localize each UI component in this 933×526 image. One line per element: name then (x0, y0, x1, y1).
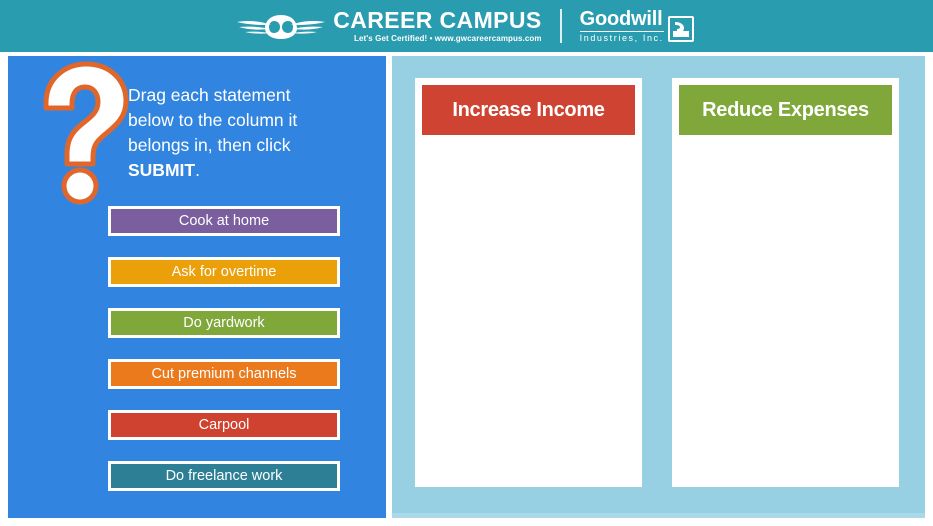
goodwill-title: Goodwill (580, 9, 664, 29)
drop-column-header: Increase Income (422, 85, 635, 135)
drop-column-title: Increase Income (452, 99, 604, 122)
instruction-line-2: below to the column it (128, 110, 297, 130)
panel-footer-strip (392, 513, 925, 518)
brand-header-bar: CAREER CAMPUS Let's Get Certified! • www… (0, 0, 933, 52)
goodwill-rule (580, 31, 664, 32)
drop-zone-increase-income[interactable] (422, 141, 635, 480)
drop-column-title: Reduce Expenses (702, 99, 869, 122)
career-campus-tagline: Let's Get Certified! • www.gwcareercampu… (333, 35, 541, 43)
statement-label: Do yardwork (183, 315, 264, 331)
goodwill-smile-icon (668, 16, 694, 42)
career-campus-logo: CAREER CAMPUS Let's Get Certified! • www… (235, 9, 541, 43)
drop-column-increase-income[interactable]: Increase Income (415, 78, 642, 487)
instruction-period: . (195, 160, 200, 180)
statement-label: Do freelance work (166, 468, 283, 484)
drop-target-panel: Increase Income Reduce Expenses (392, 56, 925, 518)
statement-chip[interactable]: Cut premium channels (108, 359, 340, 389)
activity-screen: CAREER CAMPUS Let's Get Certified! • www… (0, 0, 933, 526)
statement-label: Ask for overtime (172, 264, 277, 280)
instruction-submit-word: SUBMIT (128, 160, 195, 180)
owl-wings-icon (235, 11, 327, 41)
statement-chip[interactable]: Do yardwork (108, 308, 340, 338)
instruction-line-3: belongs in, then click (128, 135, 290, 155)
instruction-text: Drag each statement below to the column … (128, 83, 353, 183)
brand-divider (560, 9, 562, 43)
career-campus-title: CAREER CAMPUS (333, 9, 541, 32)
drop-column-header: Reduce Expenses (679, 85, 892, 135)
draggable-statement-list: Cook at home Ask for overtime Do yardwor… (108, 206, 340, 491)
statement-chip[interactable]: Cook at home (108, 206, 340, 236)
statement-label: Cut premium channels (151, 366, 296, 382)
goodwill-logo: Goodwill Industries, Inc. (580, 9, 694, 43)
goodwill-subtitle: Industries, Inc. (580, 34, 664, 43)
drop-column-reduce-expenses[interactable]: Reduce Expenses (672, 78, 899, 487)
drop-zone-reduce-expenses[interactable] (679, 141, 892, 480)
left-instruction-panel: Drag each statement below to the column … (8, 56, 386, 518)
question-mark-icon (20, 58, 138, 208)
statement-chip[interactable]: Ask for overtime (108, 257, 340, 287)
statement-label: Carpool (199, 417, 250, 433)
instruction-line-1: Drag each statement (128, 85, 290, 105)
statement-label: Cook at home (179, 213, 269, 229)
statement-chip[interactable]: Carpool (108, 410, 340, 440)
statement-chip[interactable]: Do freelance work (108, 461, 340, 491)
